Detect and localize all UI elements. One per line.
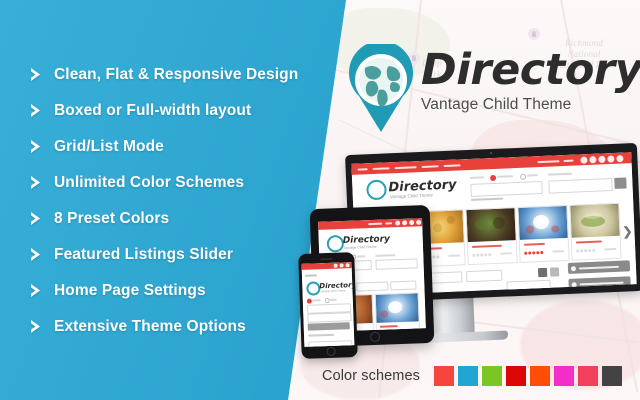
device-mockups: Directory Vantage Child Theme [300,145,640,370]
linkedin-icon[interactable] [607,155,614,162]
chevron-right-icon [28,102,45,119]
chevron-right-icon [28,174,45,191]
site-header[interactable] [302,262,352,270]
site-header[interactable] [318,218,422,230]
promo-banner: Richmond National Battlefield Park Dutch… [0,0,640,400]
filter-event[interactable] [390,280,416,290]
chevron-right-icon [28,66,45,83]
grid-view-icon[interactable] [538,268,547,277]
phone-mockup: Directory Vantage Child Theme [298,252,358,359]
radio-events-label [527,174,538,176]
feature-label: Clean, Flat & Responsive Design [54,66,298,84]
add-event-button[interactable] [568,260,630,274]
search-hint [471,198,503,201]
feature-item: Clean, Flat & Responsive Design [28,58,328,91]
radio-businesses-label [497,175,513,178]
nav-item-categories-3[interactable] [444,164,461,167]
listing-title [380,325,398,328]
color-swatch-magenta[interactable] [554,366,574,386]
slider-next-icon[interactable]: ❯ [622,225,633,237]
listing-card[interactable] [517,205,569,263]
list-view-icon[interactable] [550,267,559,276]
brand-lockup: Directory Vantage Child Theme [345,42,630,137]
color-swatch-pink-red[interactable] [578,366,598,386]
speaker-grille [320,258,332,260]
feature-item: Boxed or Full-width layout [28,94,328,127]
color-swatch-dark-gray[interactable] [602,366,622,386]
color-swatch-blue[interactable] [458,366,478,386]
account-welcome [368,223,382,225]
radio-businesses-label [312,299,321,301]
review-count [448,254,460,257]
chevron-right-icon [28,246,45,263]
feature-label: Boxed or Full-width layout [54,102,251,120]
chevron-right-icon [28,318,45,335]
listing-card[interactable] [569,203,621,261]
listing-title [524,243,545,246]
nav-item-categories[interactable] [373,167,390,170]
feature-item: Extensive Theme Options [28,310,328,343]
feature-label: Home Page Settings [54,282,206,300]
radio-businesses[interactable] [490,175,496,181]
review-count [604,248,616,251]
filter-categories-events[interactable] [356,281,388,291]
directory-site-phone: Directory Vantage Child Theme [302,262,355,347]
feature-label: Extensive Theme Options [54,318,246,336]
feature-label: Grid/List Mode [54,138,164,156]
filter-select[interactable] [308,340,352,347]
chevron-right-icon [28,282,45,299]
listing-title [472,245,502,248]
mobile-menu-label[interactable] [305,274,317,276]
listing-card[interactable] [375,292,421,331]
rating-stars [576,249,595,253]
filter-event[interactable] [466,270,502,282]
rating-stars [472,253,491,257]
search-button[interactable] [614,177,626,188]
site-logo-icon[interactable] [366,180,385,201]
search-location-input[interactable] [548,178,612,194]
search-button[interactable] [308,322,350,330]
site-logo-icon[interactable] [327,235,342,250]
feature-item: Home Page Settings [28,274,328,307]
search-hint [308,334,334,337]
phone-screen: Directory Vantage Child Theme [302,262,355,347]
listing-title [576,241,602,244]
brand-subtitle: Vantage Child Theme [421,95,640,115]
site-wordmark-sub: Vantage Child Theme [320,289,345,293]
map-marker-icon [557,295,563,296]
listing-card[interactable] [465,207,517,265]
color-swatch-red-orange[interactable] [434,366,454,386]
rss-icon[interactable] [616,155,623,162]
near-location-label [375,254,395,257]
feature-item: Grid/List Mode [28,130,328,163]
feature-item: Featured Listings Slider [28,238,328,271]
site-wordmark-sub: Vantage Child Theme [390,193,433,200]
google-plus-icon[interactable] [346,263,350,267]
nav-item-create-listing[interactable] [395,166,417,169]
feature-item: 8 Preset Colors [28,202,328,235]
facebook-icon[interactable] [334,264,338,268]
twitter-icon[interactable] [402,220,407,225]
near-location-label [548,173,572,176]
radio-events-label [357,255,365,257]
nav-item-categories-2[interactable] [422,165,439,168]
globe-map-pin-icon [345,44,417,134]
search-location-input[interactable] [375,258,417,269]
feature-label: Featured Listings Slider [54,246,233,264]
facebook-icon[interactable] [580,156,587,163]
chevron-right-icon [28,210,45,227]
color-swatch-dark-red[interactable] [506,366,526,386]
review-count [380,331,396,332]
facebook-icon[interactable] [395,220,400,225]
radio-events-label [330,299,337,301]
color-schemes-label: Color schemes [322,368,420,384]
review-count [500,252,512,255]
home-button[interactable] [370,332,380,342]
feature-label: Unlimited Color Schemes [54,174,244,192]
twitter-icon[interactable] [340,263,344,267]
webcam-icon [490,152,492,154]
home-button[interactable] [326,347,335,356]
search-for-label [470,176,484,179]
color-swatch-orange[interactable] [530,366,550,386]
review-count [552,250,564,253]
google-plus-icon[interactable] [409,220,414,225]
radio-events[interactable] [520,174,526,180]
nav-item-home[interactable] [358,168,368,170]
logout-link[interactable] [385,222,392,224]
chevron-right-icon [28,138,45,155]
color-schemes-row: Color schemes [322,366,622,386]
account-welcome [537,160,559,163]
rating-stars [524,251,543,255]
search-location-input[interactable] [307,312,351,323]
feature-list: Clean, Flat & Responsive Design Boxed or… [28,58,328,346]
feature-item: Unlimited Color Schemes [28,166,328,199]
search-keyword-input[interactable] [470,181,542,197]
page-title: Directory [421,46,640,94]
site-logo-icon[interactable] [306,281,317,293]
color-swatch-green[interactable] [482,366,502,386]
brand-text: Directory Vantage Child Theme [421,46,640,115]
site-wordmark-sub: Vantage Child Theme [344,245,377,250]
feature-label: 8 Preset Colors [54,210,169,228]
logout-link[interactable] [563,159,573,161]
twitter-icon[interactable] [589,156,596,163]
linkedin-icon[interactable] [416,220,421,225]
google-plus-icon[interactable] [598,155,605,162]
